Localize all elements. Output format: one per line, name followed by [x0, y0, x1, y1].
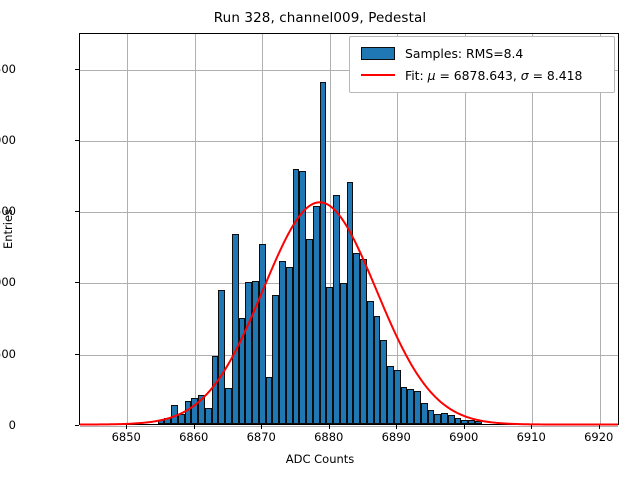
y-tick: [75, 282, 79, 283]
x-tick: [329, 425, 330, 429]
x-axis-title: ADC Counts: [0, 452, 640, 466]
legend-item-samples: Samples: RMS=8.4: [357, 42, 607, 64]
y-tick: [75, 69, 79, 70]
x-tick: [126, 425, 127, 429]
y-tick: [75, 425, 79, 426]
x-tick: [261, 425, 262, 429]
legend-item-fit: Fit: μ = 6878.643, σ = 8.418: [357, 64, 607, 86]
y-tick-label: 2000: [0, 133, 16, 147]
x-tick: [464, 425, 465, 429]
y-tick-label: 500: [0, 347, 16, 361]
legend-line-fit: [357, 74, 399, 76]
x-tick: [599, 425, 600, 429]
legend: Samples: RMS=8.4 Fit: μ = 6878.643, σ = …: [349, 36, 615, 93]
x-tick-label: 6860: [179, 430, 208, 444]
y-tick: [75, 140, 79, 141]
x-tick: [396, 425, 397, 429]
x-tick-label: 6880: [314, 430, 343, 444]
x-tick-label: 6900: [449, 430, 478, 444]
x-tick-label: 6910: [517, 430, 546, 444]
figure: Run 328, channel009, Pedestal 6850686068…: [0, 0, 640, 480]
y-tick: [75, 211, 79, 212]
x-tick-label: 6920: [584, 430, 613, 444]
y-tick-label: 0: [9, 418, 16, 432]
y-tick-label: 1000: [0, 275, 16, 289]
legend-label-fit: Fit: μ = 6878.643, σ = 8.418: [399, 68, 582, 83]
x-tick-label: 6850: [112, 430, 141, 444]
legend-label-samples: Samples: RMS=8.4: [399, 46, 523, 61]
x-tick: [531, 425, 532, 429]
x-tick-label: 6870: [247, 430, 276, 444]
x-tick: [194, 425, 195, 429]
chart-title: Run 328, channel009, Pedestal: [0, 10, 640, 26]
gridline-y: [80, 426, 618, 427]
legend-swatch-samples: [357, 47, 399, 60]
y-tick-label: 2500: [0, 62, 16, 76]
y-axis-title: Entries: [1, 209, 15, 249]
y-tick: [75, 354, 79, 355]
x-tick-label: 6890: [382, 430, 411, 444]
